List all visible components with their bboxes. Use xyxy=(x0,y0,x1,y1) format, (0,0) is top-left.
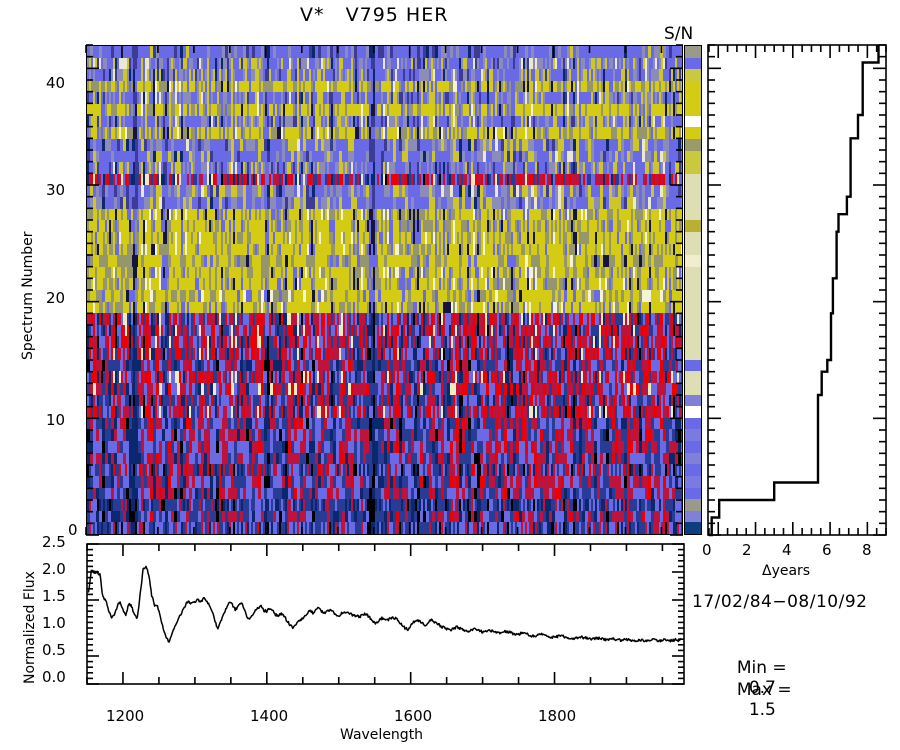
flux-tick-0.0: 0.0 xyxy=(42,668,66,686)
flux-tick-2.5: 2.5 xyxy=(42,533,66,551)
flux-tick-2.0: 2.0 xyxy=(42,560,66,578)
wavelength-axis-label: Wavelength xyxy=(340,727,423,743)
spectrum-number-axis-label: Spectrum Number xyxy=(20,231,36,360)
page-title: V* V795 HER xyxy=(300,4,448,26)
normalized-flux-axis-label: Normalized Flux xyxy=(22,571,38,684)
dyears-tick-2: 2 xyxy=(742,541,752,559)
wavelength-tick-1600: 1600 xyxy=(394,707,432,725)
max-stat: Max = 1.5 xyxy=(726,660,792,720)
sn-colorbar xyxy=(685,46,701,534)
dyears-tick-0: 0 xyxy=(702,541,712,559)
sn-colorbar-label: S/N xyxy=(664,24,693,44)
flux-tick-1.0: 1.0 xyxy=(42,614,66,632)
dyears-tick-8: 8 xyxy=(862,541,872,559)
trailed-spectrum-axes xyxy=(76,40,696,560)
max-label: Max = xyxy=(737,680,792,700)
dyears-tick-6: 6 xyxy=(822,541,832,559)
dyears-axis-label: Δyears xyxy=(762,563,810,579)
date-range-label: 17/02/84−08/10/92 xyxy=(692,592,867,612)
wavelength-tick-1400: 1400 xyxy=(250,707,288,725)
dyears-tick-4: 4 xyxy=(782,541,792,559)
flux-tick-0.5: 0.5 xyxy=(42,641,66,659)
y-tick-10: 10 xyxy=(46,411,65,429)
flux-tick-1.5: 1.5 xyxy=(42,587,66,605)
epoch-step-plot xyxy=(706,45,891,545)
y-tick-40: 40 xyxy=(46,74,65,92)
y-tick-0: 0 xyxy=(68,521,78,539)
wavelength-tick-1800: 1800 xyxy=(538,707,576,725)
wavelength-tick-1200: 1200 xyxy=(106,707,144,725)
mean-spectrum-plot xyxy=(86,543,696,703)
y-tick-20: 20 xyxy=(46,289,65,307)
y-tick-30: 30 xyxy=(46,181,65,199)
max-value: 1.5 xyxy=(749,700,776,720)
